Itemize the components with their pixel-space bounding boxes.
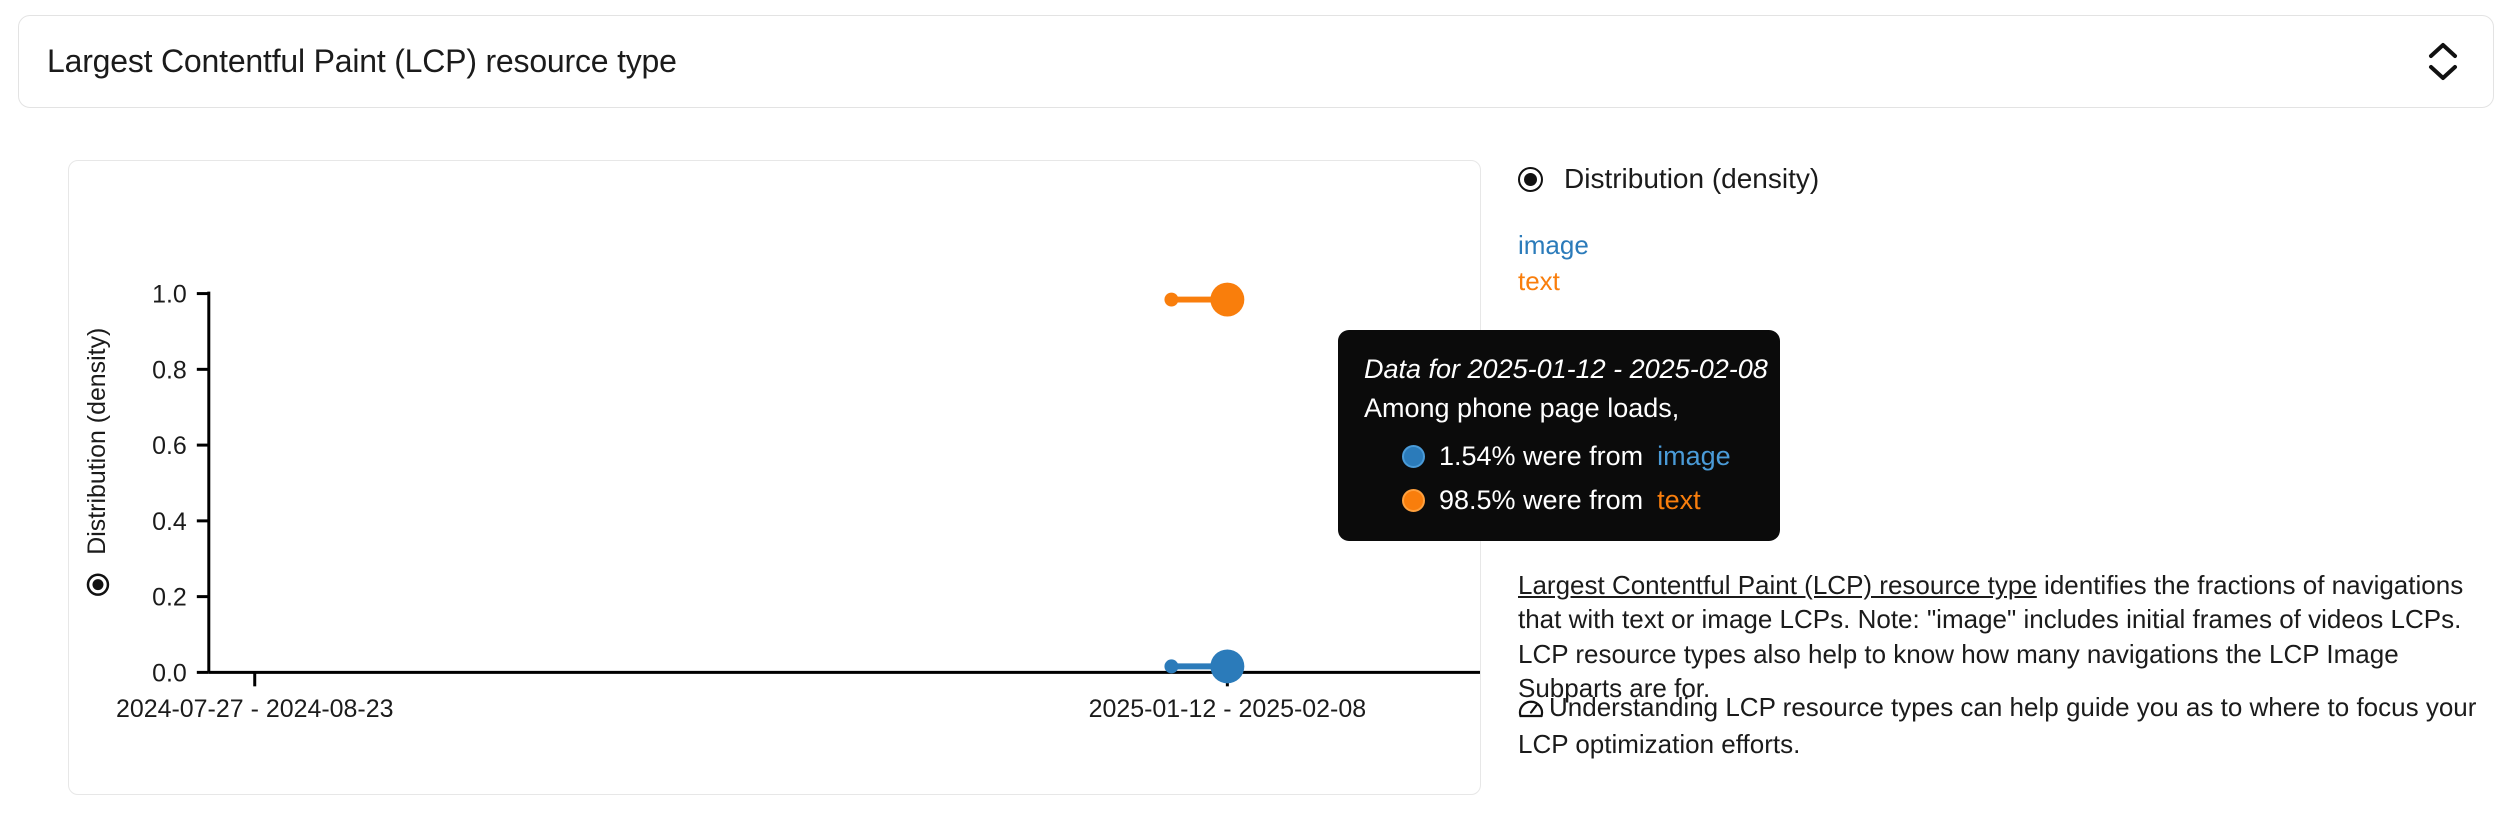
- y-tick-label: 0.2: [152, 584, 187, 612]
- y-axis-tick-labels: 0.0 0.2 0.4 0.6 0.8 1.0: [152, 281, 187, 688]
- chevron-up-icon: [2428, 42, 2458, 59]
- tooltip-image-value: 1.54% were from: [1439, 441, 1643, 472]
- series-text[interactable]: [1164, 283, 1244, 317]
- legend-item-text[interactable]: text: [1518, 264, 1560, 300]
- metric-radio-distribution-density[interactable]: Distribution (density): [1518, 163, 2478, 195]
- tooltip-row-text: 98.5% were from text: [1364, 485, 1754, 516]
- metric-description: Largest Contentful Paint (LCP) resource …: [1518, 568, 2498, 705]
- tooltip-dot-text-icon: [1402, 489, 1425, 512]
- x-axis-ticks: [255, 672, 1228, 686]
- x-axis-tick-labels: 2024-07-27 - 2024-08-23 2025-01-12 - 202…: [116, 695, 1366, 723]
- tooltip-image-series-name: image: [1657, 441, 1731, 472]
- series-text-point-highlighted[interactable]: [1210, 283, 1244, 317]
- metric-radio-label: Distribution (density): [1564, 163, 1819, 195]
- tooltip-dot-image-icon: [1402, 445, 1425, 468]
- chart-side-panel: Distribution (density) image text Larges…: [1518, 160, 2478, 300]
- y-tick-label: 1.0: [152, 281, 187, 309]
- y-tick-label: 0.8: [152, 356, 187, 384]
- series-text-point[interactable]: [1164, 293, 1178, 307]
- series-image-point-highlighted[interactable]: [1210, 649, 1244, 683]
- metric-insight-text: Understanding LCP resource types can hel…: [1518, 692, 2476, 759]
- y-tick-label: 0.4: [152, 508, 187, 536]
- series-image[interactable]: [1164, 649, 1244, 683]
- y-tick-label: 0.0: [152, 659, 187, 687]
- tooltip-text-series-name: text: [1657, 485, 1701, 516]
- chevron-down-icon: [2428, 64, 2458, 81]
- gauge-icon: [1518, 693, 1544, 727]
- radio-selected-icon: [1518, 167, 1543, 192]
- y-axis-metric-radio-icon[interactable]: [88, 575, 108, 595]
- tooltip-text-value: 98.5% were from: [1439, 485, 1643, 516]
- x-tick-label: 2024-07-27 - 2024-08-23: [116, 695, 394, 723]
- x-tick-label: 2025-01-12 - 2025-02-08: [1089, 695, 1367, 723]
- chart-legend: image text: [1518, 228, 2478, 300]
- y-tick-label: 0.6: [152, 432, 187, 460]
- page-title: Largest Contentful Paint (LCP) resource …: [47, 42, 677, 80]
- distribution-line-chart[interactable]: 0.0 0.2 0.4 0.6 0.8 1.0 Distribution (de…: [69, 161, 1480, 794]
- metric-description-link[interactable]: Largest Contentful Paint (LCP) resource …: [1518, 570, 2037, 600]
- panel-header[interactable]: Largest Contentful Paint (LCP) resource …: [18, 15, 2494, 108]
- y-axis-title: Distribution (density): [83, 328, 111, 555]
- tooltip-title: Data for 2025-01-12 - 2025-02-08: [1364, 352, 1754, 388]
- lcp-resource-type-panel: Largest Contentful Paint (LCP) resource …: [0, 0, 2512, 820]
- chart-tooltip: Data for 2025-01-12 - 2025-02-08 Among p…: [1338, 330, 1780, 541]
- legend-item-image[interactable]: image: [1518, 228, 1589, 264]
- tooltip-row-image: 1.54% were from image: [1364, 441, 1754, 472]
- tooltip-subtitle: Among phone page loads,: [1364, 390, 1754, 428]
- metric-insight: Understanding LCP resource types can hel…: [1518, 690, 2498, 762]
- series-image-point[interactable]: [1164, 659, 1178, 673]
- y-axis-ticks: [197, 294, 209, 673]
- chevron-up-down-icon[interactable]: [2421, 34, 2465, 90]
- chart-card: 0.0 0.2 0.4 0.6 0.8 1.0 Distribution (de…: [68, 160, 1481, 795]
